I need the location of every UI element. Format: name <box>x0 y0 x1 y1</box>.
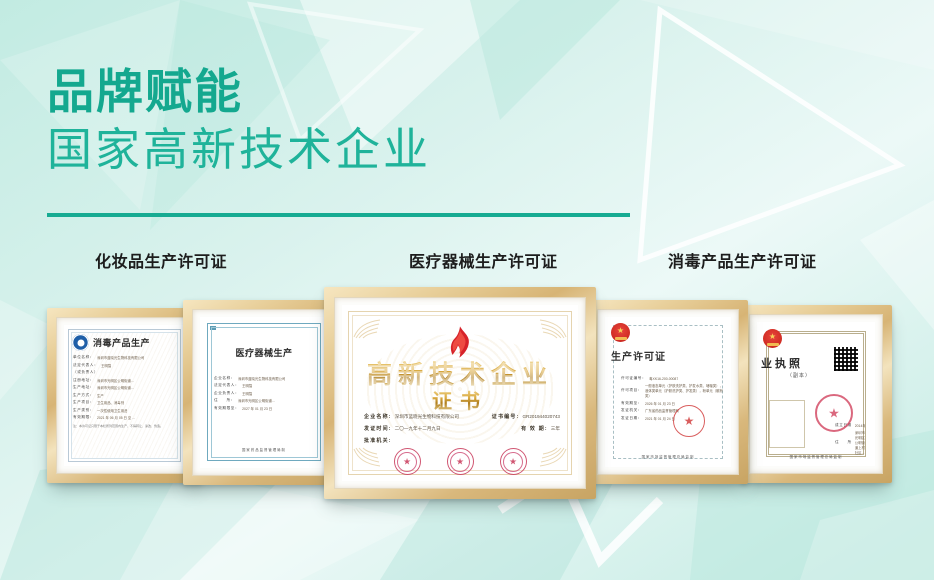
field-row: 发证日期： 2021 年 01 月 24 日 <box>621 416 723 421</box>
corner-marker-icon <box>210 326 216 330</box>
field-row: 发证时间: 二〇一九年十二月九日 有 效 期: 三年 <box>364 425 560 432</box>
ornament-corner-icon <box>538 317 568 339</box>
frame-mat: 医疗器械生产 企业名称： 深圳市蓝晓光生物科技有限公司 法定代表人： 王明智 企… <box>192 309 336 476</box>
field-label: 发证机关： <box>621 408 642 413</box>
field-value: 2027 年 01 月 23 日 <box>242 406 272 411</box>
certificate-title: 生产许可证 <box>611 352 666 363</box>
certificate-fields: 企业名称: 深圳市蓝晓光生物科技有限公司 证书编号: GR20194402074… <box>364 413 560 449</box>
certificate-title: 业执照 <box>761 358 803 370</box>
certificate-sheet: 生产许可证 许可证编号： 粤XK16-200-00087 许可项目： 一般液态单… <box>605 317 731 467</box>
field-value: 二〇一九年十二月九日 <box>395 426 441 432</box>
field-row: 批准机关: <box>364 437 560 444</box>
field-label: 证书编号: <box>492 413 520 420</box>
field-row: 住 所 深圳市光明区公明街道上村社区... <box>835 430 865 455</box>
field-label: 住 所： <box>214 398 235 403</box>
certificate-footer: 国家市场监督管理总局监制 <box>605 454 731 459</box>
field-label: 许可证编号： <box>621 376 646 381</box>
certificate-frame-production-license[interactable]: 生产许可证 许可证编号： 粤XK16-200-00087 许可项目： 一般液态单… <box>588 300 748 484</box>
field-row: 有效期至： 2026 年 01 月 23 日 <box>621 401 723 406</box>
certificate-frame-high-tech-enterprise[interactable]: 高新技术企业 证书 企业名称: 深圳市蓝晓光生物科技有限公司 证书编号: GR2… <box>324 287 596 499</box>
frame-mat: 生产许可证 许可证编号： 粤XK16-200-00087 许可项目： 一般液态单… <box>597 309 739 475</box>
field-value: 王明智 <box>242 383 252 388</box>
certificate-subtitle: 证书 <box>342 385 578 414</box>
field-value: GR201944020743 <box>522 414 560 419</box>
field-row: 发证机关： 广东省药品监督管理局 <box>621 408 723 413</box>
certificate-seals: ★ ★ ★ <box>342 448 578 475</box>
ornament-corner-icon <box>352 317 382 339</box>
certificate-title: 医疗器械生产 <box>235 348 292 358</box>
field-value: 广东省药品监督管理局 <box>645 408 679 413</box>
certificate-frame-business-license[interactable]: 业执照 （副本） 成立日期 2014年8月21日 住 所 深圳市光明区公明街道上… <box>740 305 892 483</box>
certificate-sheet: 消毒产品生产 单位名称： 深圳市蓝晓光生物科技有限公司 法定代表人： 王明智 （… <box>64 325 185 466</box>
field-label: 批准机关: <box>364 437 392 444</box>
certificate-sheet: 业执照 （副本） 成立日期 2014年8月21日 住 所 深圳市光明区公明街道上… <box>757 322 875 466</box>
field-label: 企业负责人： <box>214 391 239 396</box>
certificate-fields: 许可证编号： 粤XK16-200-00087 许可项目： 一般液态单元（护肤洗护… <box>621 373 723 421</box>
certificate-frame-disinfection[interactable]: 消毒产品生产 单位名称： 深圳市蓝晓光生物科技有限公司 法定代表人： 王明智 （… <box>47 308 202 483</box>
field-value: 2014年8月21日 <box>855 423 865 428</box>
frame-mat: 消毒产品生产 单位名称： 深圳市蓝晓光生物科技有限公司 法定代表人： 王明智 （… <box>56 317 193 474</box>
red-flame-emblem-icon <box>446 325 474 359</box>
field-label: 有效期限至： <box>214 406 239 411</box>
national-emblem-icon <box>611 323 630 342</box>
certificate-sheet: 医疗器械生产 企业名称： 深圳市蓝晓光生物科技有限公司 法定代表人： 王明智 企… <box>200 317 328 468</box>
field-value: 粤XK16-200-00087 <box>649 376 678 381</box>
field-label: 有 效 期: <box>521 425 548 432</box>
field-value: 三年 <box>551 426 560 432</box>
certificate-footer: 国家药品监督管理局制 <box>200 447 328 452</box>
field-label: 企业名称： <box>214 376 235 381</box>
blue-round-seal-icon <box>72 334 89 351</box>
frame-mat: 高新技术企业 证书 企业名称: 深圳市蓝晓光生物科技有限公司 证书编号: GR2… <box>334 297 586 489</box>
field-value: 深圳市光明区公明街道... <box>238 398 275 403</box>
field-row: 许可证编号： 粤XK16-200-00087 <box>621 376 723 381</box>
field-row: 企业名称： 深圳市蓝晓光生物科技有限公司 <box>214 376 318 381</box>
field-row: 有效期限至： 2027 年 01 月 23 日 <box>214 406 318 411</box>
side-panel <box>769 400 805 448</box>
frame-mat: 业执照 （副本） 成立日期 2014年8月21日 住 所 深圳市光明区公明街道上… <box>749 314 883 474</box>
field-label: 住 所 <box>835 440 852 445</box>
red-star-seal-icon: ★ <box>394 448 421 475</box>
qr-code-icon <box>833 346 859 372</box>
field-row: 企业名称: 深圳市蓝晓光生物科技有限公司 证书编号: GR20194402074… <box>364 413 560 420</box>
red-star-stamp-icon: ★ <box>673 405 705 437</box>
field-value: 一般液态单元（护肤洗护类、护发水类、啫喱类），液体类单元（护肤洗护类、护发类），… <box>645 383 723 398</box>
field-row: 法定代表人： 王明智 <box>214 383 318 388</box>
field-value: 深圳市光明区公明街道上村社区... <box>855 430 865 455</box>
field-value: 2021 年 01 月 24 日 <box>645 416 675 421</box>
field-label: 企业名称: <box>364 413 392 420</box>
red-star-seal-icon: ★ <box>447 448 474 475</box>
field-label: 有效期至： <box>621 401 642 406</box>
field-value: 2026 年 01 月 23 日 <box>645 401 675 406</box>
field-value: 王明智 <box>242 391 252 396</box>
certificate-sheet: 高新技术企业 证书 企业名称: 深圳市蓝晓光生物科技有限公司 证书编号: GR2… <box>342 305 578 481</box>
field-label: 法定代表人： <box>214 383 239 388</box>
red-star-stamp-icon: ★ <box>815 394 853 432</box>
field-row: 许可项目： 一般液态单元（护肤洗护类、护发水类、啫喱类），液体类单元（护肤洗护类… <box>621 383 723 398</box>
certificate-footer: 国家市场监督管理总局监制 <box>757 454 875 459</box>
field-row: 企业负责人： 王明智 <box>214 391 318 396</box>
field-label: 发证时间: <box>364 425 392 432</box>
certificate-subtitle: （副本） <box>787 372 811 379</box>
national-emblem-icon <box>763 329 782 348</box>
field-label: 许可项目： <box>621 388 642 393</box>
field-label: 发证日期： <box>621 416 642 421</box>
field-value: 深圳市蓝晓光生物科技有限公司 <box>238 376 285 381</box>
field-row: 住 所： 深圳市光明区公明街道... <box>214 398 318 403</box>
certificate-gallery: 消毒产品生产 单位名称： 深圳市蓝晓光生物科技有限公司 法定代表人： 王明智 （… <box>0 0 934 580</box>
field-value: 深圳市蓝晓光生物科技有限公司 <box>395 414 459 420</box>
certificate-frame-medical-device[interactable]: 医疗器械生产 企业名称： 深圳市蓝晓光生物科技有限公司 法定代表人： 王明智 企… <box>183 300 345 485</box>
red-star-seal-icon: ★ <box>500 448 527 475</box>
banner-stage: 品牌赋能 国家高新技术企业 化妆品生产许可证 医疗器械生产许可证 消毒产品生产许… <box>0 0 934 580</box>
